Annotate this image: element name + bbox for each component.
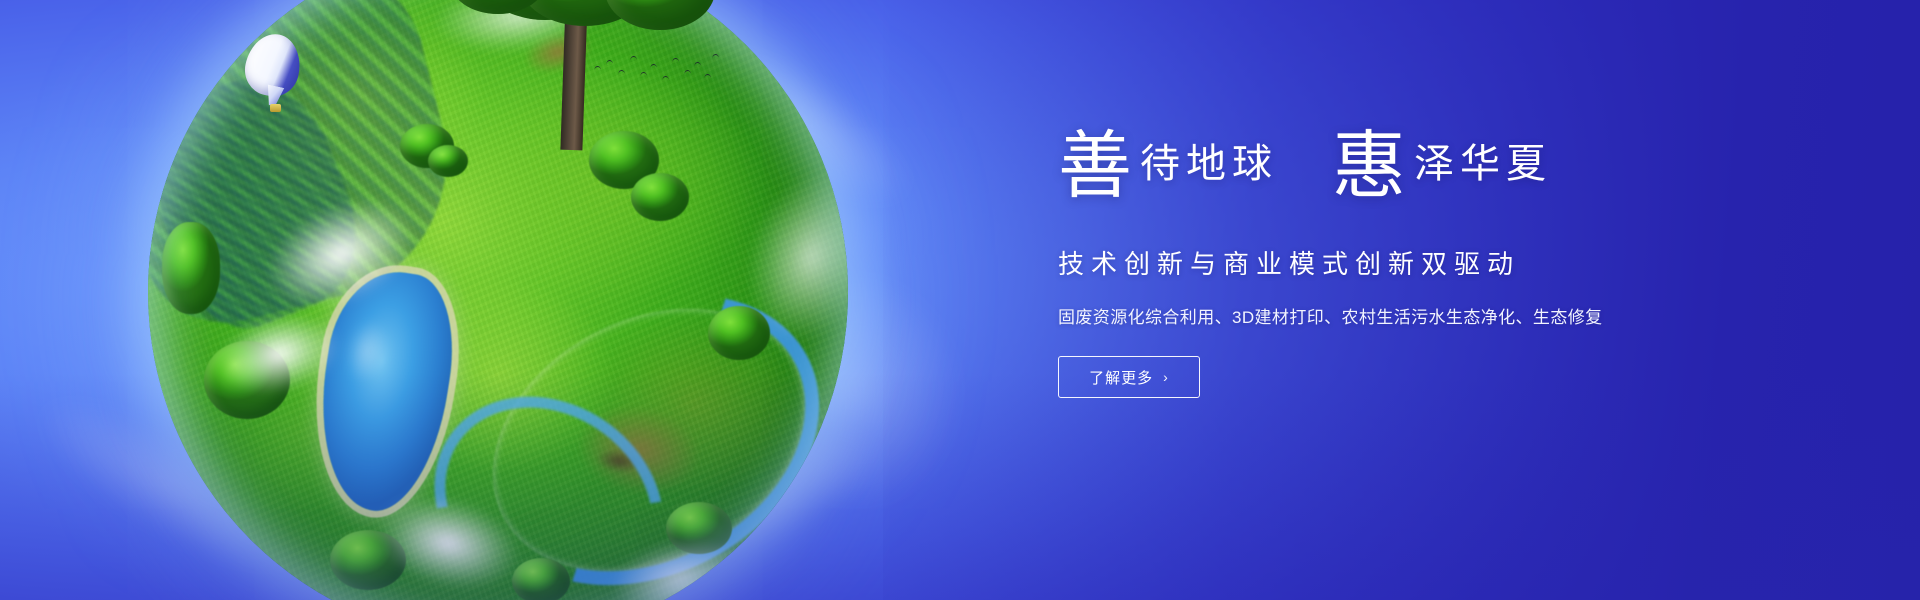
headline: 善待地球惠泽华夏 bbox=[1058, 120, 1758, 220]
learn-more-button[interactable]: 了解更多 › bbox=[1058, 356, 1200, 398]
headline-char-primary-2: 惠 bbox=[1332, 130, 1406, 204]
headline-char-primary-1: 善 bbox=[1058, 130, 1132, 204]
description: 固废资源化综合利用、3D建材打印、农村生活污水生态净化、生态修复 bbox=[1058, 303, 1758, 328]
chevron-right-icon: › bbox=[1163, 370, 1169, 384]
headline-text-1: 待地球 bbox=[1140, 144, 1278, 184]
banner-copy: 善待地球惠泽华夏 技术创新与商业模式创新双驱动 固废资源化综合利用、3D建材打印… bbox=[1058, 120, 1758, 398]
headline-text-2: 泽华夏 bbox=[1414, 144, 1552, 184]
subtitle: 技术创新与商业模式创新双驱动 bbox=[1058, 244, 1758, 281]
learn-more-label: 了解更多 bbox=[1089, 367, 1153, 388]
hero-banner: 善待地球惠泽华夏 技术创新与商业模式创新双驱动 固废资源化综合利用、3D建材打印… bbox=[0, 0, 1920, 600]
